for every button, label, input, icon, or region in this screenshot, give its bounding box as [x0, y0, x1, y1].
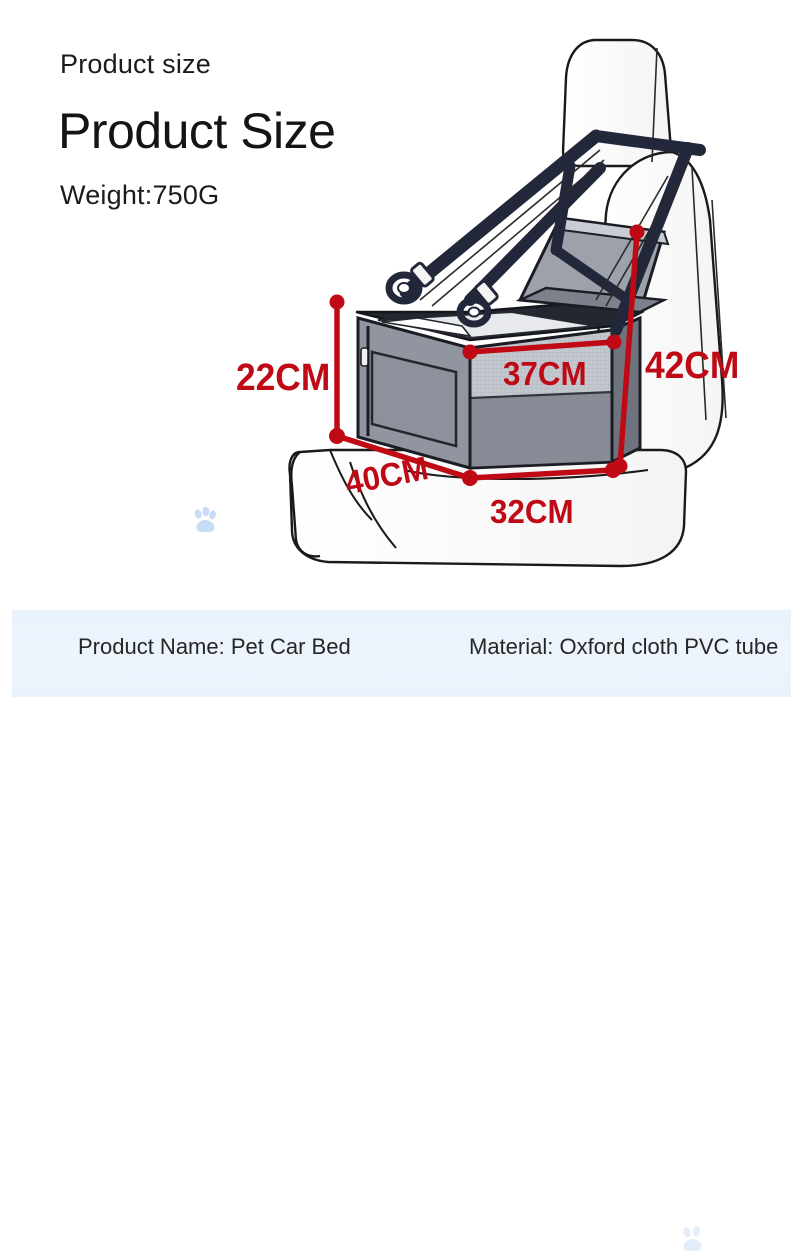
footer-material: Material: Oxford cloth PVC tube [469, 634, 778, 660]
footer-product-name: Product Name: Pet Car Bed [78, 634, 351, 660]
dimension-label-42cm: 42CM [645, 345, 739, 388]
dimension-label-32cm: 32CM [490, 493, 574, 531]
dimension-label-37cm: 37CM [503, 355, 587, 393]
bed-front-lower [470, 392, 612, 468]
dimension-label-22cm: 22CM [236, 357, 330, 400]
bed-side-tab [361, 348, 368, 366]
paw-print-icon [188, 503, 222, 537]
product-size-infographic: Product size Product Size Weight:750G [0, 0, 811, 697]
strap-buckles [410, 262, 498, 305]
paw-print-footer-icon [675, 1222, 711, 1256]
